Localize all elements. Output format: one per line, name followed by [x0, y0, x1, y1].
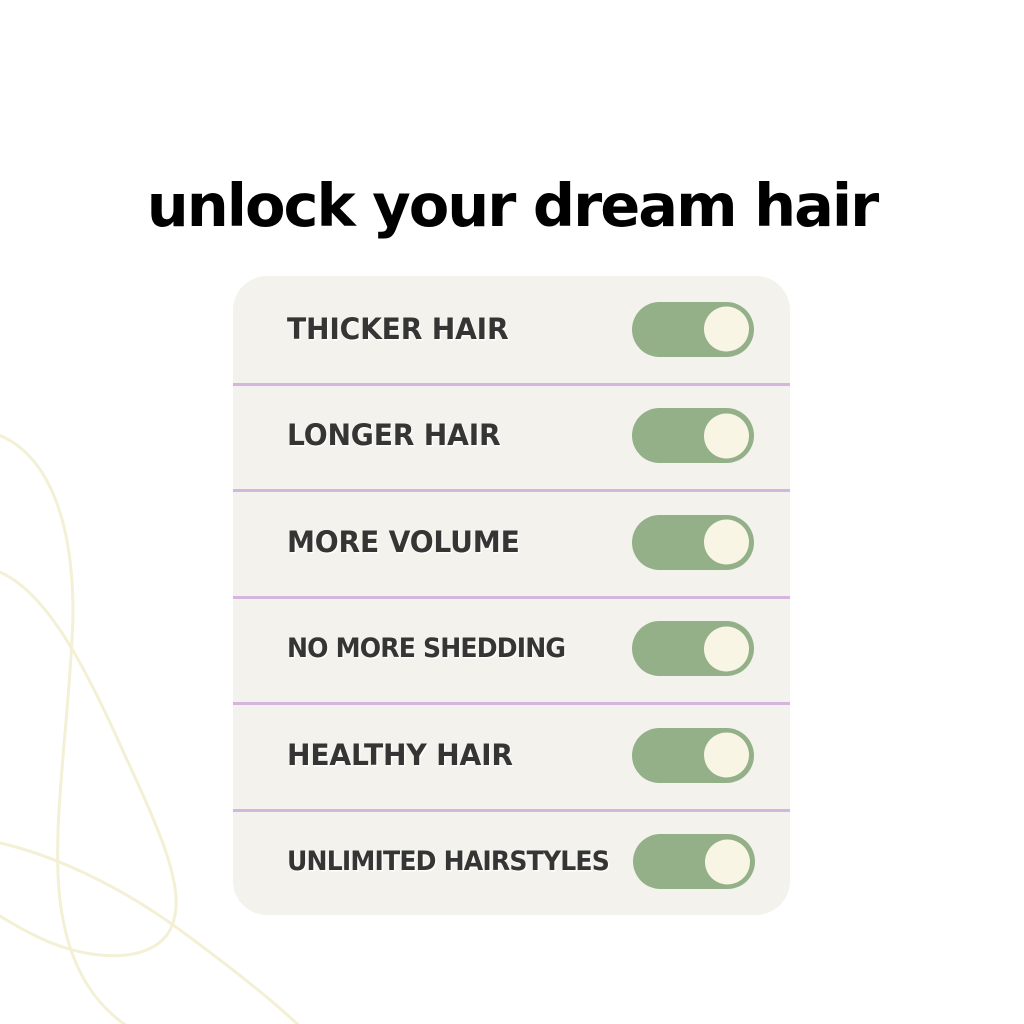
- toggle-knob-icon: [704, 626, 749, 671]
- toggle-knob-icon: [705, 839, 750, 884]
- benefit-row-no-more-shedding: NO MORE SHEDDING: [233, 596, 790, 703]
- benefit-label: UNLIMITED HAIRSTYLES: [287, 848, 609, 875]
- benefit-label: NO MORE SHEDDING: [287, 635, 608, 662]
- toggle-no-more-shedding[interactable]: [632, 621, 754, 676]
- toggle-knob-icon: [704, 413, 749, 458]
- toggle-knob-icon: [704, 733, 749, 778]
- toggle-unlimited-hairstyles[interactable]: [633, 834, 755, 889]
- benefit-row-longer-hair: LONGER HAIR: [233, 383, 790, 490]
- benefit-label: MORE VOLUME: [287, 528, 622, 557]
- benefit-label: LONGER HAIR: [287, 421, 622, 450]
- benefits-card: THICKER HAIR LONGER HAIR MORE VOLUME NO …: [233, 276, 790, 915]
- toggle-healthy-hair[interactable]: [632, 728, 754, 783]
- benefit-row-unlimited-hairstyles: UNLIMITED HAIRSTYLES: [233, 809, 790, 916]
- benefit-row-thicker-hair: THICKER HAIR: [233, 276, 790, 383]
- benefit-label: THICKER HAIR: [287, 315, 622, 344]
- benefit-row-healthy-hair: HEALTHY HAIR: [233, 702, 790, 809]
- squiggle-path-2: [0, 568, 176, 956]
- toggle-knob-icon: [704, 307, 749, 352]
- benefit-row-more-volume: MORE VOLUME: [233, 489, 790, 596]
- page-title: unlock your dream hair: [0, 171, 1024, 241]
- toggle-longer-hair[interactable]: [632, 408, 754, 463]
- toggle-knob-icon: [704, 520, 749, 565]
- benefit-label: HEALTHY HAIR: [287, 741, 622, 770]
- toggle-more-volume[interactable]: [632, 515, 754, 570]
- squiggle-path-1: [0, 432, 140, 1024]
- toggle-thicker-hair[interactable]: [632, 302, 754, 357]
